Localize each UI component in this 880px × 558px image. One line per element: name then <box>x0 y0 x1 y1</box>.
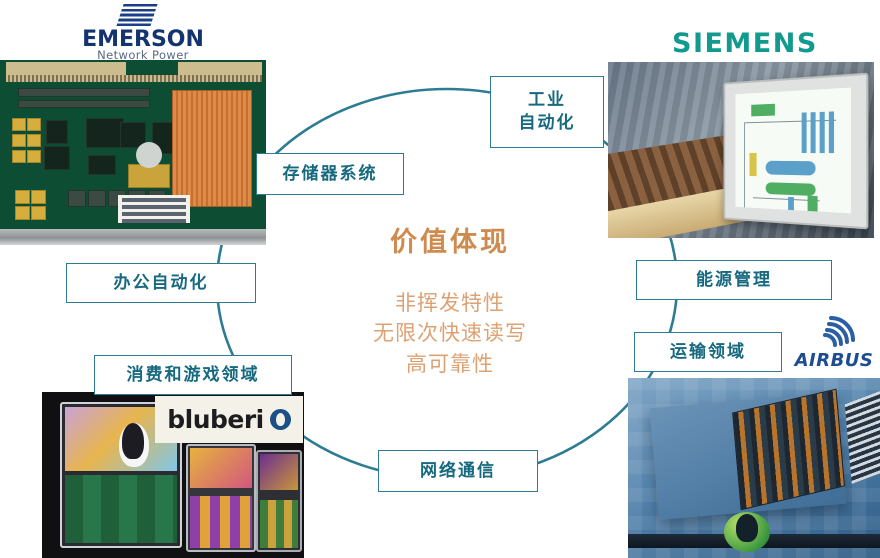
photo-casino-slot-machines: bluberi <box>42 392 304 558</box>
emerson-logo: EMERSON Network Power <box>48 2 238 58</box>
label-office-automation-text: 办公自动化 <box>114 272 209 295</box>
label-transportation-text: 运输领域 <box>670 341 746 364</box>
penguin-figure <box>724 512 770 552</box>
photo-industrial-hmi <box>608 62 874 238</box>
label-industrial-automation[interactable]: 工业 自动化 <box>490 76 604 148</box>
photo-circuit-board <box>0 60 266 245</box>
label-storage-system-text: 存储器系统 <box>283 163 378 186</box>
hmi-panel <box>724 73 869 230</box>
emerson-tagline: Network Power <box>48 48 238 62</box>
board-label <box>118 195 190 223</box>
label-network-communication[interactable]: 网络通信 <box>378 450 538 492</box>
label-storage-system[interactable]: 存储器系统 <box>256 153 404 195</box>
label-office-automation[interactable]: 办公自动化 <box>66 263 256 303</box>
center-value-block: 价值体现 非挥发特性 无限次快速读写 高可靠性 <box>340 228 560 379</box>
center-line-2: 无限次快速读写 <box>340 318 560 348</box>
label-energy-management[interactable]: 能源管理 <box>636 260 832 300</box>
bluberi-logo: bluberi <box>155 396 303 443</box>
label-consumer-gaming[interactable]: 消费和游戏领域 <box>94 355 292 395</box>
emerson-mark-icon <box>116 2 158 28</box>
bluberi-penguin-icon <box>270 409 291 430</box>
label-industrial-automation-text-1: 工业 <box>528 89 566 112</box>
label-energy-management-text: 能源管理 <box>696 269 772 292</box>
airbus-logo: AIRBUS <box>792 306 876 371</box>
center-title: 价值体现 <box>340 228 560 258</box>
center-line-1: 非挥发特性 <box>340 288 560 318</box>
scada-screen <box>735 88 850 214</box>
label-consumer-gaming-text: 消费和游戏领域 <box>127 364 260 387</box>
center-line-3: 高可靠性 <box>340 349 560 379</box>
siemens-logo: SIEMENS <box>672 28 862 59</box>
photo-transport-equipment-rack <box>628 378 880 558</box>
slide-canvas: EMERSON Network Power <box>0 0 880 558</box>
airbus-swirl-icon <box>809 306 859 348</box>
label-transportation[interactable]: 运输领域 <box>634 332 782 372</box>
bluberi-wordmark: bluberi <box>167 405 264 434</box>
heatsink <box>172 90 252 207</box>
label-network-communication-text: 网络通信 <box>420 460 496 483</box>
label-industrial-automation-text-2: 自动化 <box>519 112 576 135</box>
airbus-wordmark: AIRBUS <box>792 350 876 371</box>
